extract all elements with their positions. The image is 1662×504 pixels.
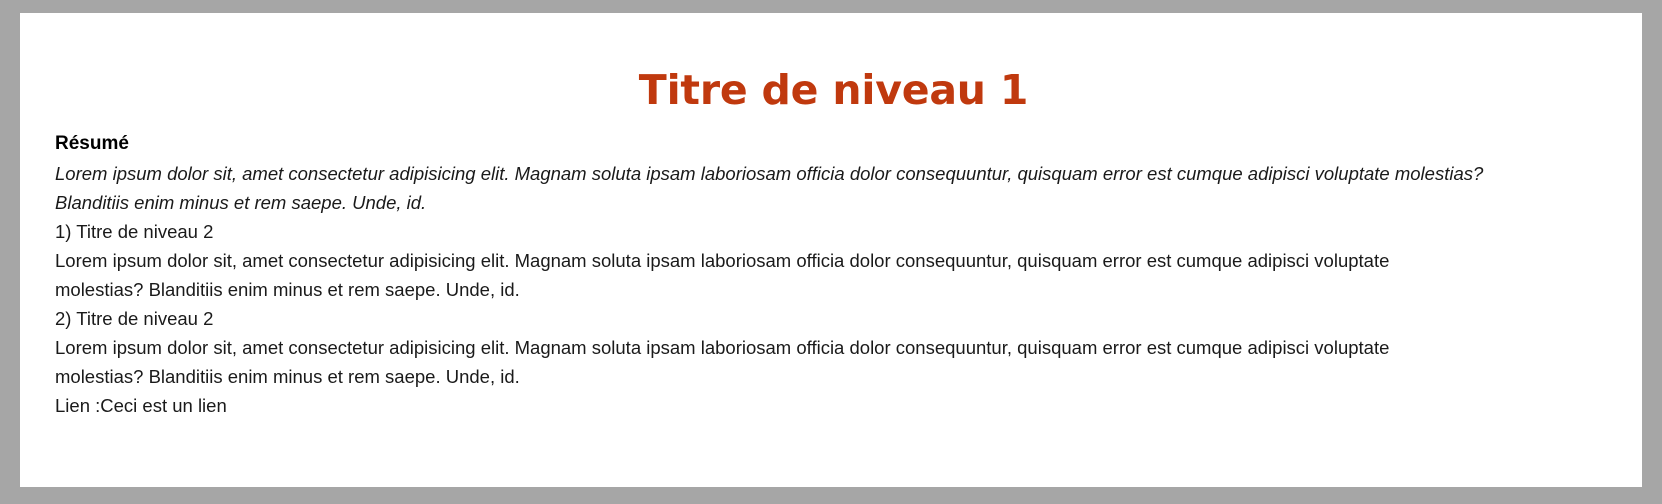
document-card: Titre de niveau 1 Résumé Lorem ipsum dol…: [20, 13, 1642, 487]
document-link[interactable]: Ceci est un lien: [100, 395, 226, 416]
section-heading-2: 2) Titre de niveau 2: [55, 304, 1612, 333]
abstract-paragraph: Lorem ipsum dolor sit, amet consectetur …: [55, 159, 1523, 217]
section-heading-1: 1) Titre de niveau 2: [55, 217, 1612, 246]
section-paragraph-1: Lorem ipsum dolor sit, amet consectetur …: [55, 246, 1450, 304]
page-title: Titre de niveau 1: [55, 13, 1612, 114]
link-label: Lien :: [55, 395, 100, 416]
document-content: Titre de niveau 1 Résumé Lorem ipsum dol…: [55, 13, 1612, 420]
abstract-heading: Résumé: [55, 130, 1612, 159]
page-root: Titre de niveau 1 Résumé Lorem ipsum dol…: [0, 0, 1662, 504]
link-line: Lien :Ceci est un lien: [55, 391, 1612, 420]
section-paragraph-2: Lorem ipsum dolor sit, amet consectetur …: [55, 333, 1450, 391]
